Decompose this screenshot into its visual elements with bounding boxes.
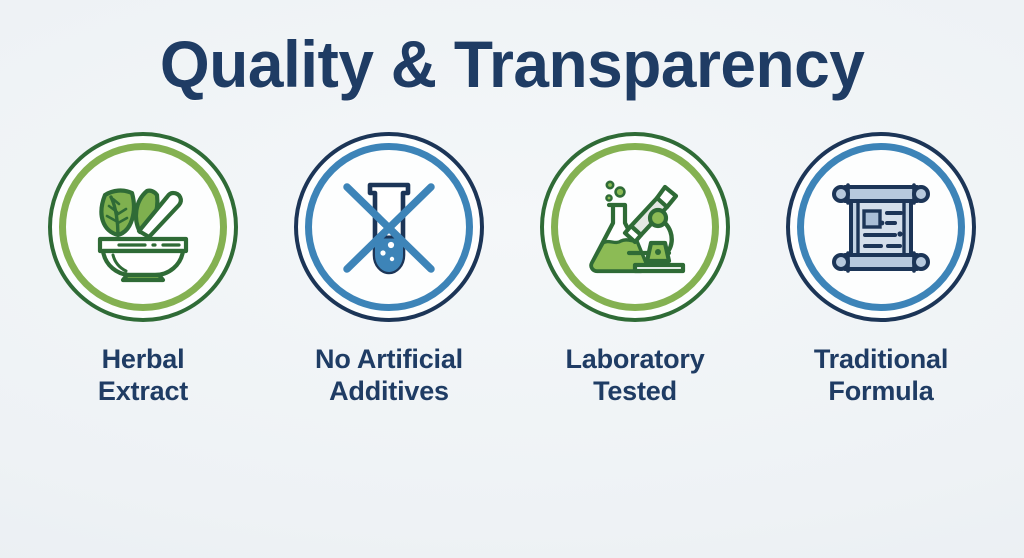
- badge-label-line1: Herbal: [98, 344, 188, 376]
- badge-label-no-artificial-additives: No Artificial Additives: [315, 344, 463, 407]
- badge-circle-no-artificial-additives: [294, 132, 484, 322]
- badge-circle-laboratory-tested: [540, 132, 730, 322]
- badge-laboratory-tested[interactable]: Laboratory Tested: [538, 132, 732, 407]
- badge-label-line1: No Artificial: [315, 344, 463, 376]
- badge-label-line1: Laboratory: [565, 344, 704, 376]
- badge-label-herbal-extract: Herbal Extract: [98, 344, 188, 407]
- scroll-document-icon: [825, 171, 937, 283]
- no-test-tube-icon: [333, 171, 445, 283]
- quality-transparency-infographic: Quality & Transparency: [0, 0, 1024, 558]
- page-title: Quality & Transparency: [160, 30, 864, 99]
- badge-no-artificial-additives[interactable]: No Artificial Additives: [292, 132, 486, 407]
- page-title-container: Quality & Transparency: [0, 30, 1024, 118]
- badge-label-line2: Formula: [814, 376, 948, 408]
- badge-label-line1: Traditional: [814, 344, 948, 376]
- badge-label-laboratory-tested: Laboratory Tested: [565, 344, 704, 407]
- flask-microscope-icon: [579, 171, 691, 283]
- badge-herbal-extract[interactable]: Herbal Extract: [46, 132, 240, 407]
- badge-circle-traditional-formula: [786, 132, 976, 322]
- badge-row: Herbal Extract: [0, 132, 1024, 407]
- badge-label-line2: Extract: [98, 376, 188, 408]
- badge-circle-herbal-extract: [48, 132, 238, 322]
- badge-label-line2: Additives: [315, 376, 463, 408]
- badge-label-line2: Tested: [565, 376, 704, 408]
- mortar-pestle-herb-icon: [87, 171, 199, 283]
- badge-traditional-formula[interactable]: Traditional Formula: [784, 132, 978, 407]
- badge-label-traditional-formula: Traditional Formula: [814, 344, 948, 407]
